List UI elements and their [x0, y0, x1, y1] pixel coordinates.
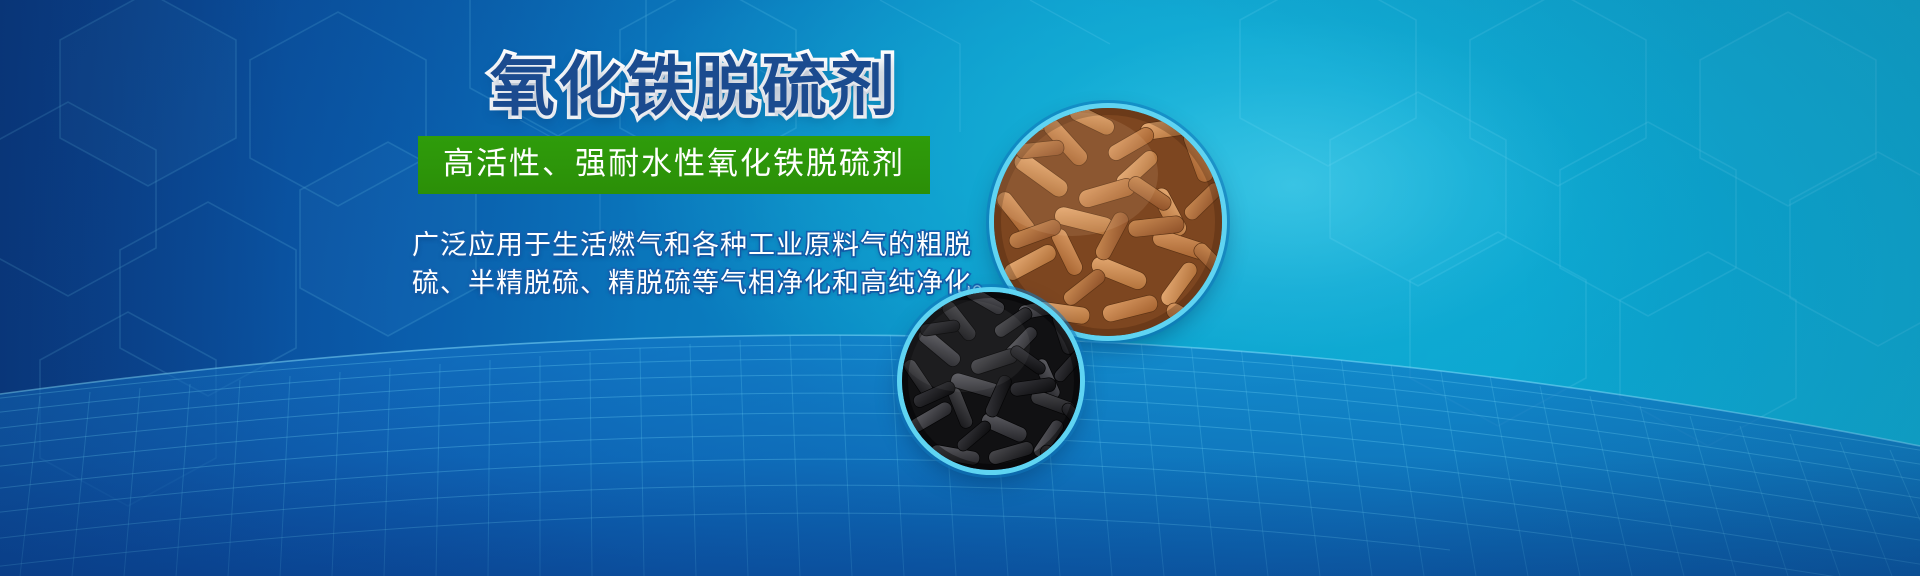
activated-carbon-pellets-photo — [902, 292, 1080, 470]
banner-description-line-2: 硫、半精脱硫、精脱硫等气相净化和高纯净化。 — [412, 264, 970, 302]
banner-tagline-text: 高活性、强耐水性氧化铁脱硫剂 — [418, 145, 930, 183]
product-hero-banner: 氧化铁脱硫剂 高活性、强耐水性氧化铁脱硫剂 广泛应用于生活燃气和各种工业原料气的… — [0, 0, 1920, 576]
banner-description-line-1: 广泛应用于生活燃气和各种工业原料气的粗脱 — [412, 226, 970, 264]
banner-tagline-bar: 高活性、强耐水性氧化铁脱硫剂 — [418, 136, 930, 194]
banner-copy-block: 氧化铁脱硫剂 高活性、强耐水性氧化铁脱硫剂 广泛应用于生活燃气和各种工业原料气的… — [330, 52, 970, 303]
banner-description: 广泛应用于生活燃气和各种工业原料气的粗脱 硫、半精脱硫、精脱硫等气相净化和高纯净… — [330, 226, 970, 303]
activated-carbon-pellets-image — [902, 292, 1080, 470]
banner-headline: 氧化铁脱硫剂 — [330, 52, 970, 122]
